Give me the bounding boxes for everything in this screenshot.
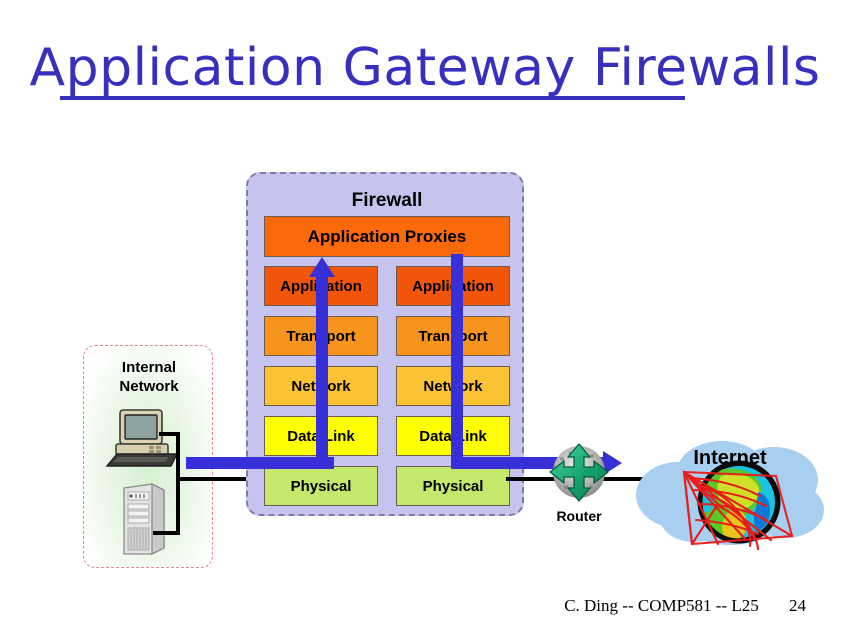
layer-physical-left: Physical [264, 466, 378, 506]
server-tower-icon [118, 482, 170, 558]
footer-credit: C. Ding -- COMP581 -- L25 [564, 596, 759, 615]
page-title: Application Gateway Firewalls [0, 38, 850, 98]
router-icon [546, 441, 612, 507]
firewall-label: Firewall [248, 190, 526, 212]
layer-physical-right: Physical [396, 466, 510, 506]
lan-drop-desktop [159, 432, 178, 436]
inbound-flow-vertical [316, 276, 328, 463]
desktop-computer-icon [103, 408, 183, 470]
lan-bus-vertical [176, 432, 180, 535]
application-proxies-box: Application Proxies [264, 216, 510, 257]
internal-network-label-line2: Network [119, 378, 178, 395]
inbound-flow-arrowhead [309, 257, 335, 277]
page-number: 24 [789, 596, 806, 616]
internal-network-label-line1: Internal [122, 359, 176, 376]
internet-label: Internet [640, 447, 820, 470]
internal-network-label: Internal Network [84, 359, 214, 397]
outbound-flow-vertical [451, 254, 463, 469]
inbound-flow-horizontal [186, 457, 334, 469]
footer: C. Ding -- COMP581 -- L25 24 [0, 596, 850, 616]
title-underline [60, 96, 685, 100]
lan-drop-server [153, 531, 178, 535]
router-label: Router [538, 508, 620, 524]
